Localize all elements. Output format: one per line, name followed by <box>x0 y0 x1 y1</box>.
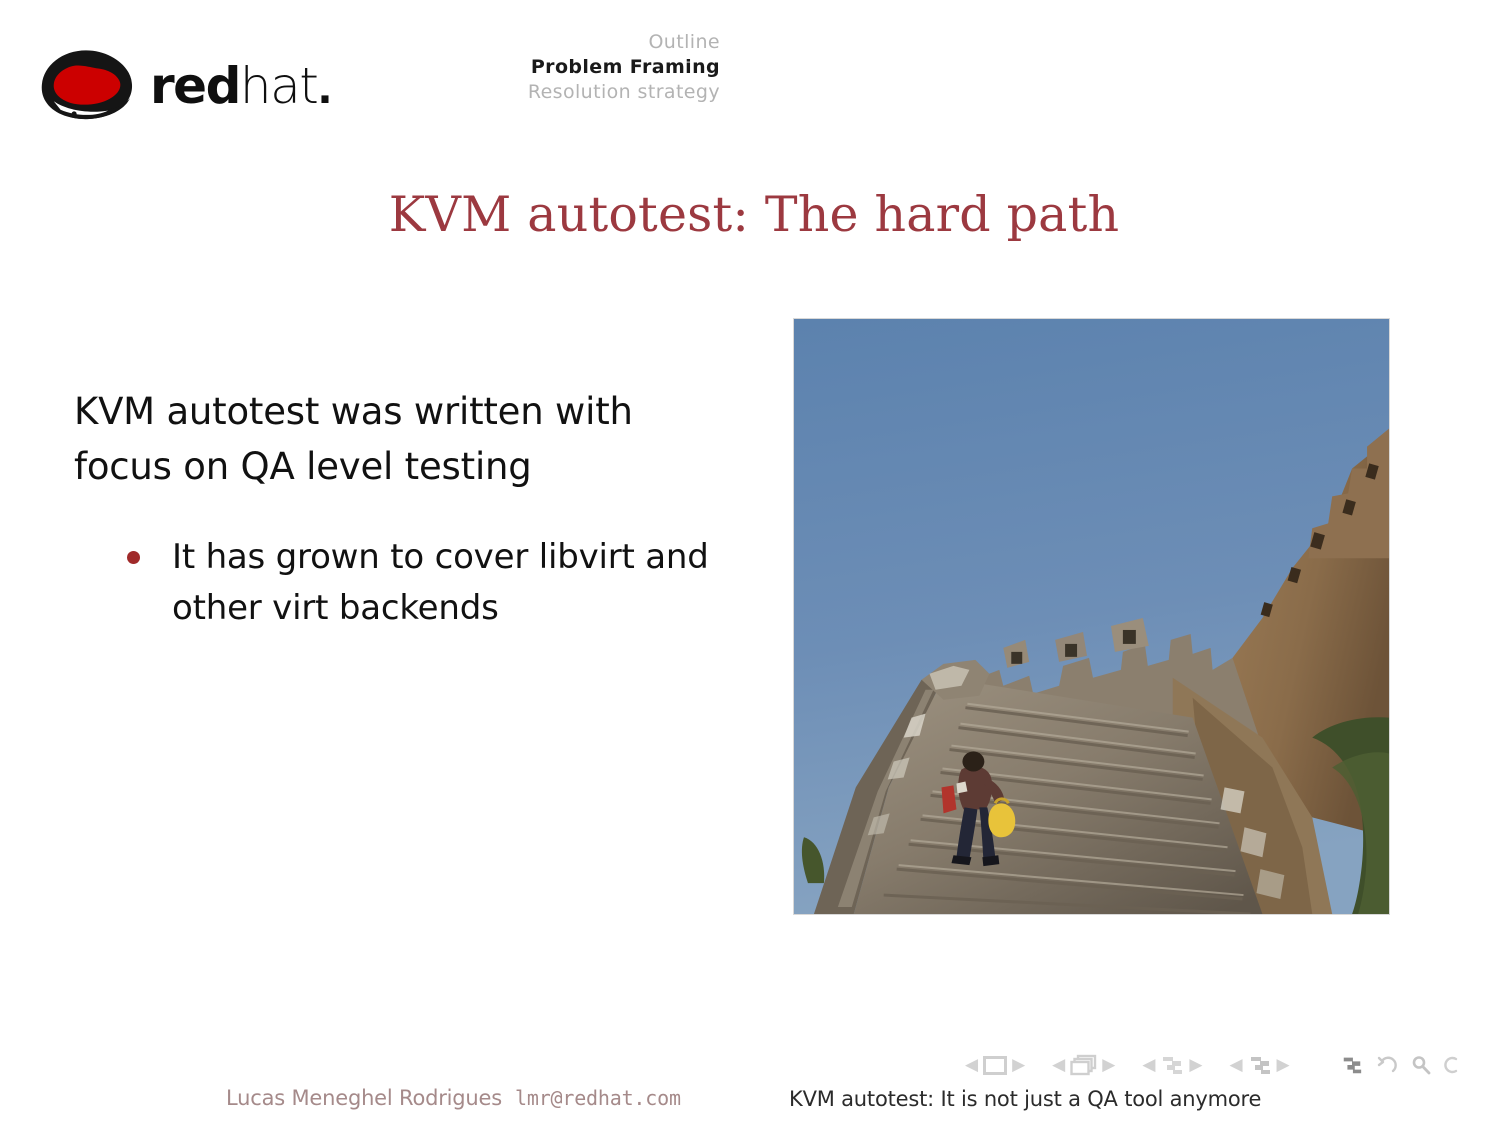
triangle-right-icon[interactable]: ▶ <box>1272 1057 1295 1074</box>
nav-item-problem-framing[interactable]: Problem Framing <box>380 55 720 80</box>
nav-group-subsection: ◀ ▶ <box>1137 1054 1207 1076</box>
lead-paragraph: KVM autotest was written with focus on Q… <box>74 385 734 495</box>
footer-email[interactable]: lmr@redhat.com <box>515 1086 681 1110</box>
great-wall-stairs-photo <box>793 318 1390 915</box>
list-item: It has grown to cover libvirt and other … <box>124 532 734 634</box>
frame-square-icon[interactable] <box>983 1056 1007 1075</box>
bullet-dot-icon <box>127 551 140 564</box>
triangle-left-icon[interactable]: ◀ <box>1137 1057 1160 1074</box>
slide-body: KVM autotest was written with focus on Q… <box>74 348 734 634</box>
nav-item-outline[interactable]: Outline <box>380 30 720 55</box>
section-navigation: Outline Problem Framing Resolution strat… <box>380 30 720 105</box>
list-item-label: It has grown to cover libvirt and other … <box>172 537 709 628</box>
redhat-wordmark: redhat. <box>150 61 331 111</box>
triangle-right-icon[interactable]: ▶ <box>1007 1057 1030 1074</box>
back-arrow-icon[interactable] <box>1376 1055 1398 1075</box>
wordmark-hat: hat <box>240 57 317 115</box>
nav-group-frame: ◀ ▶ <box>960 1056 1030 1075</box>
slide-footer: Lucas Meneghel Rodrigueslmr@redhat.com K… <box>0 1086 1508 1131</box>
triangle-left-icon[interactable]: ◀ <box>1047 1057 1070 1074</box>
triangle-right-icon[interactable]: ▶ <box>1184 1057 1207 1074</box>
nav-tail-group <box>1328 1054 1460 1076</box>
bullet-list: It has grown to cover libvirt and other … <box>74 532 734 634</box>
nav-group-section: ◀ ▶ <box>1224 1054 1294 1076</box>
triangle-left-icon[interactable]: ◀ <box>1224 1057 1247 1074</box>
subsection-icon[interactable] <box>1160 1054 1184 1076</box>
slide-header: redhat. Outline Problem Framing Resoluti… <box>0 0 1508 150</box>
section-icon[interactable] <box>1248 1054 1272 1076</box>
footer-author: Lucas Meneghel Rodrigueslmr@redhat.com <box>226 1086 681 1110</box>
footer-subject: KVM autotest: It is not just a QA tool a… <box>789 1087 1261 1111</box>
forward-arrow-icon[interactable] <box>1444 1055 1460 1075</box>
search-magnifier-icon[interactable] <box>1411 1055 1431 1075</box>
wordmark-dot: . <box>317 67 331 113</box>
document-part-icon[interactable] <box>1341 1054 1363 1076</box>
triangle-right-icon[interactable]: ▶ <box>1097 1057 1120 1074</box>
beamer-navigation-bar[interactable]: ◀ ▶ ◀ ▶ ◀ ▶ ◀ ▶ <box>960 1048 1460 1082</box>
triangle-left-icon[interactable]: ◀ <box>960 1057 983 1074</box>
nav-item-resolution-strategy[interactable]: Resolution strategy <box>380 80 720 105</box>
nav-group-slide-stack: ◀ ▶ <box>1047 1054 1120 1076</box>
wordmark-red: red <box>150 57 240 115</box>
footer-author-name: Lucas Meneghel Rodrigues <box>226 1086 502 1110</box>
redhat-logo: redhat. <box>34 46 331 126</box>
slide-stack-icon[interactable] <box>1070 1054 1097 1076</box>
slide-title: KVM autotest: The hard path <box>0 186 1508 243</box>
redhat-shadowman-icon <box>34 47 138 125</box>
